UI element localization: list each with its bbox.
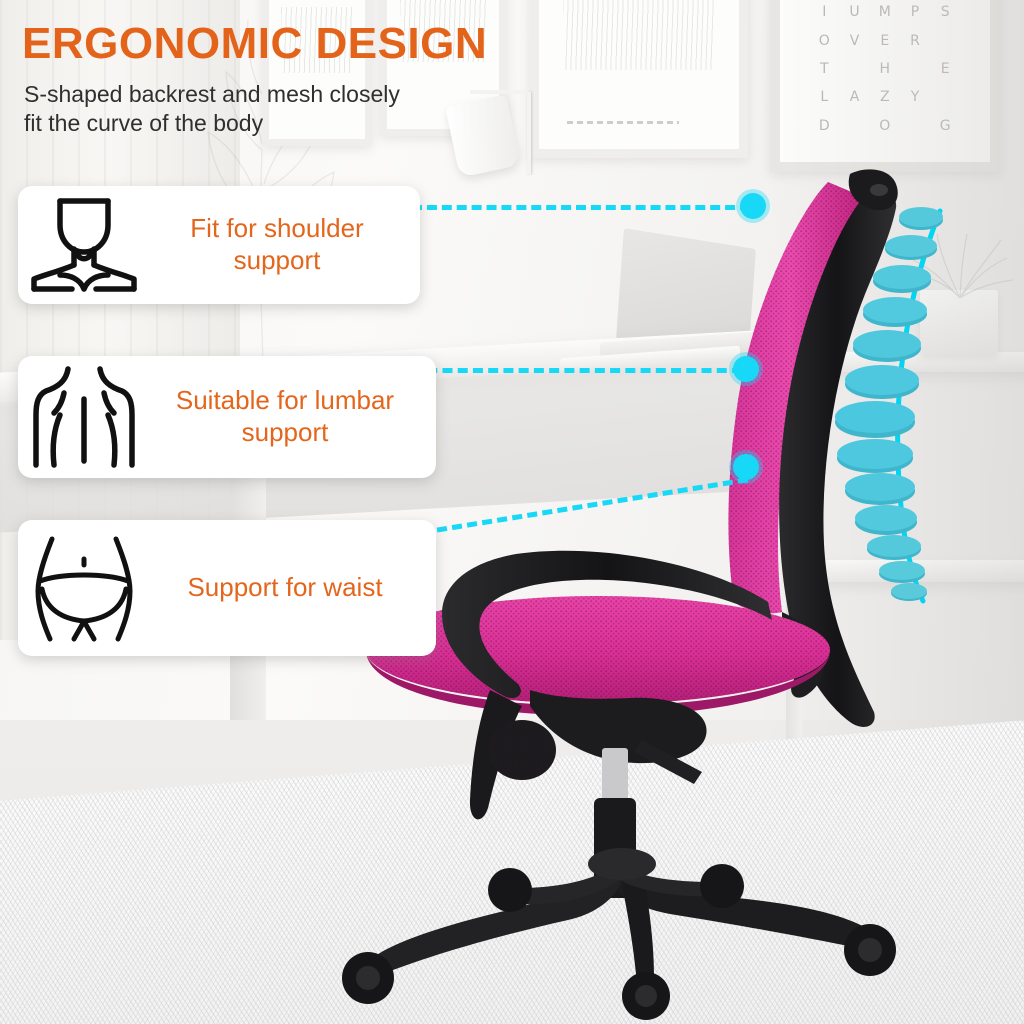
framed-art-3 bbox=[530, 0, 748, 158]
lamp-arm-horizontal bbox=[470, 90, 530, 94]
page-subtitle: S-shaped backrest and mesh closely fit t… bbox=[24, 80, 400, 139]
feature-card-waist[interactable]: Support for waist bbox=[18, 520, 436, 656]
label-line-2: support bbox=[150, 417, 420, 449]
lumbar-connector-line bbox=[412, 368, 742, 373]
chair-base-5-star bbox=[365, 848, 878, 992]
waist-hip-icon bbox=[18, 520, 150, 656]
back-spine-icon bbox=[18, 356, 150, 478]
feature-card-waist-label: Support for waist bbox=[150, 572, 436, 604]
label-line-1: Support for waist bbox=[150, 572, 420, 604]
art-caption bbox=[567, 121, 679, 124]
label-line-1: Fit for shoulder bbox=[150, 213, 404, 245]
feature-card-shoulder-label: Fit for shoulder support bbox=[150, 213, 420, 276]
subtitle-line-2: fit the curve of the body bbox=[24, 109, 400, 138]
infographic-stage: I U M P S O V E R T H E L A Z Y D O G bbox=[0, 0, 1024, 1024]
page-title: ERGONOMIC DESIGN bbox=[22, 22, 487, 66]
shoulder-connector-dot bbox=[740, 193, 766, 219]
lumbar-connector-dot bbox=[733, 356, 759, 382]
feature-card-lumbar[interactable]: Suitable for lumbar support bbox=[18, 356, 436, 478]
label-line-2: support bbox=[150, 245, 404, 277]
feature-card-shoulder[interactable]: Fit for shoulder support bbox=[18, 186, 420, 304]
chair-gas-cylinder-chrome bbox=[602, 748, 628, 806]
subtitle-line-1: S-shaped backrest and mesh closely bbox=[24, 80, 400, 109]
shoulder-neck-icon bbox=[18, 186, 150, 304]
feature-card-lumbar-label: Suitable for lumbar support bbox=[150, 385, 436, 448]
art-scribble bbox=[563, 0, 715, 70]
label-line-1: Suitable for lumbar bbox=[150, 385, 420, 417]
waist-connector-dot bbox=[733, 454, 759, 480]
shoulder-connector-line bbox=[412, 205, 750, 210]
